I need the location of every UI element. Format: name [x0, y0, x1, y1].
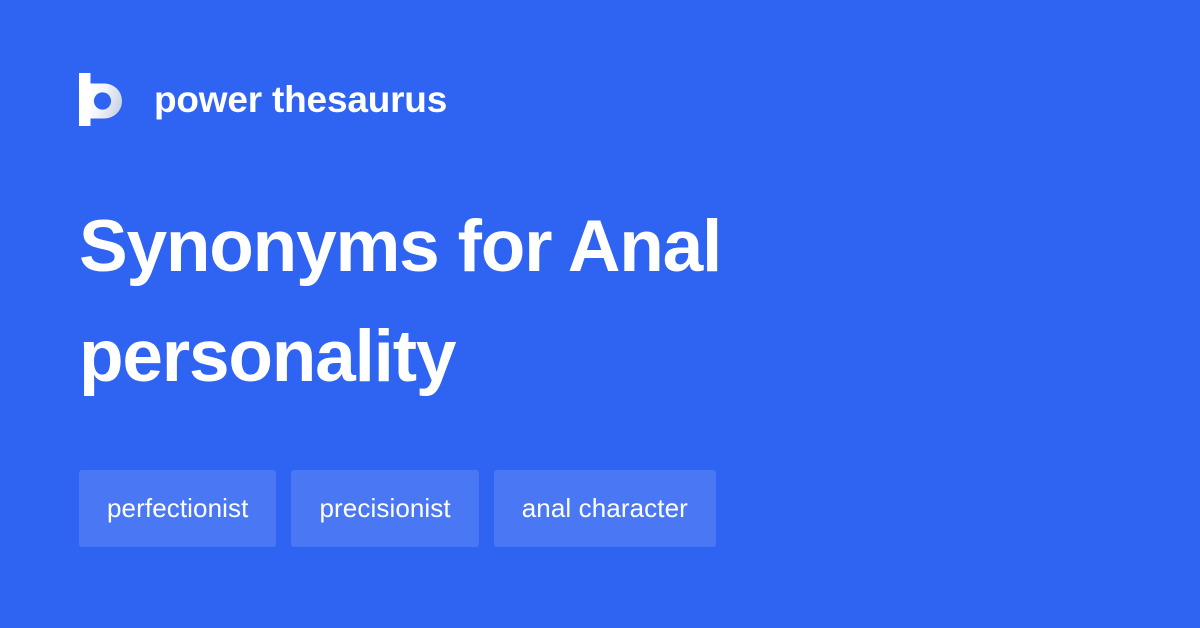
page-title-line-1: Synonyms for Anal — [79, 206, 721, 287]
synonym-chip-list: perfectionist precisionist anal characte… — [79, 470, 716, 547]
power-thesaurus-logo[interactable] — [79, 73, 125, 126]
page-title: Synonyms for Anal personality — [79, 192, 939, 412]
power-thesaurus-b-logo-icon — [79, 73, 125, 126]
brand-header[interactable]: power thesaurus — [79, 70, 447, 128]
page-title-line-2: personality — [79, 316, 455, 397]
synonym-chip[interactable]: anal character — [494, 470, 716, 547]
social-share-card: power thesaurus Synonyms for Anal person… — [0, 0, 1200, 628]
synonym-chip[interactable]: perfectionist — [79, 470, 276, 547]
brand-wordmark: power thesaurus — [154, 81, 447, 118]
synonym-chip[interactable]: precisionist — [291, 470, 478, 547]
